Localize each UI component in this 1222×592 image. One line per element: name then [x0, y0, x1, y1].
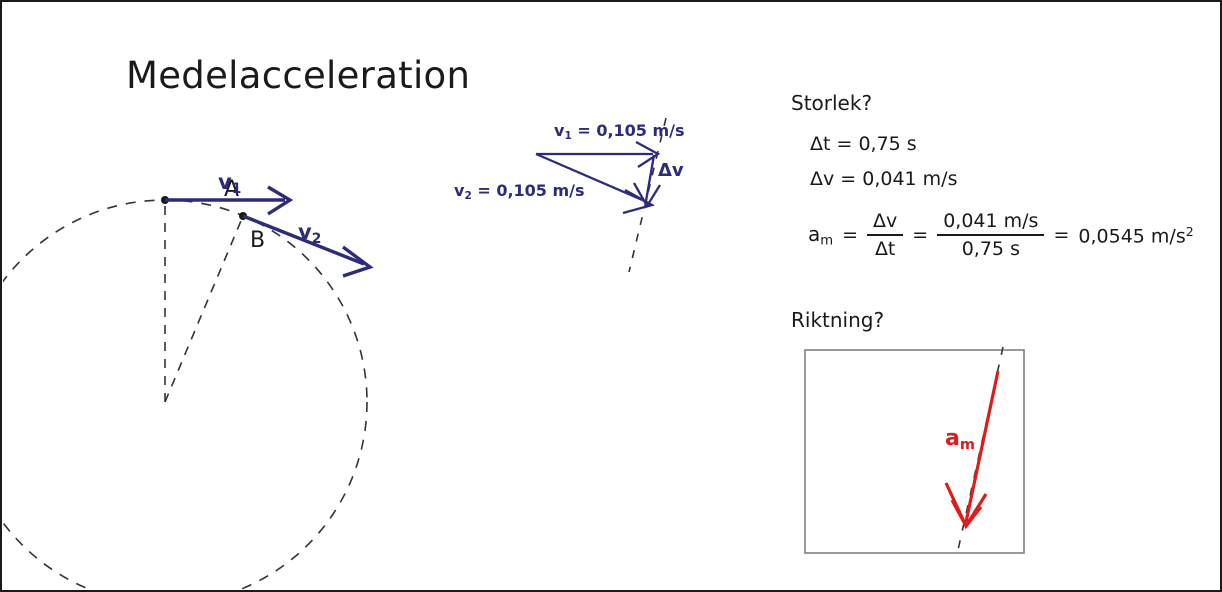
- mid-v1-symbol: v: [554, 121, 564, 140]
- equation-result-exponent: 2: [1186, 224, 1194, 239]
- delta-v-line: Δv = 0,041 m/s: [810, 168, 957, 190]
- mid-v2-label: v2 = 0,105 m/s: [454, 181, 585, 202]
- direction-box: [805, 350, 1024, 553]
- mid-v2-symbol: v: [454, 181, 464, 200]
- magnitude-heading: Storlek?: [791, 91, 872, 115]
- page-title: Medelacceleration: [126, 54, 470, 97]
- mid-v2-subscript: 2: [464, 190, 471, 202]
- v2-label: v2: [298, 220, 321, 247]
- slide-canvas: Medelacceleration A B v1 v2 v1 = 0,105 m…: [0, 0, 1222, 592]
- symbolic-denominator: Δt: [869, 236, 901, 260]
- acceleration-equation: am = Δv Δt = 0,041 m/s 0,75 s = 0,0545 m…: [808, 210, 1194, 261]
- v2-label-text: v: [298, 220, 312, 244]
- v2-label-subscript: 2: [312, 231, 322, 247]
- mid-v2-value: = 0,105 m/s: [472, 181, 585, 200]
- equals-sign-1: =: [842, 224, 858, 246]
- mid-v1-label: v1 = 0,105 m/s: [554, 121, 685, 142]
- symbolic-numerator: Δv: [867, 210, 903, 234]
- equation-symbol-subscript: m: [820, 234, 833, 249]
- equals-sign-3: =: [1053, 224, 1069, 246]
- symbolic-fraction: Δv Δt: [867, 210, 903, 261]
- accel-arrow-label: am: [945, 426, 975, 453]
- mid-v1-value: = 0,105 m/s: [572, 121, 685, 140]
- equation-result-value: 0,0545 m/s: [1078, 225, 1185, 247]
- accel-arrow-label-text: a: [945, 426, 960, 451]
- v1-label-subscript: 1: [232, 181, 242, 197]
- numeric-denominator: 0,75 s: [956, 236, 1026, 260]
- delta-v-label: Δv: [658, 160, 684, 181]
- equation-result: 0,0545 m/s2: [1078, 224, 1193, 247]
- v1-label: v1: [218, 170, 241, 197]
- mid-v1-subscript: 1: [564, 130, 571, 142]
- radius-to-b: [165, 216, 243, 402]
- accel-arrow-label-subscript: m: [960, 437, 975, 453]
- equation-symbol-text: a: [808, 222, 820, 246]
- numeric-fraction: 0,041 m/s 0,75 s: [937, 210, 1044, 261]
- numeric-numerator: 0,041 m/s: [937, 210, 1044, 234]
- equation-symbol: am: [808, 222, 833, 249]
- trajectory-circle: [2, 200, 367, 592]
- equals-sign-2: =: [912, 224, 928, 246]
- v1-label-text: v: [218, 170, 232, 194]
- delta-t-line: Δt = 0,75 s: [810, 133, 917, 155]
- point-b-label: B: [250, 228, 265, 253]
- direction-heading: Riktning?: [791, 308, 884, 332]
